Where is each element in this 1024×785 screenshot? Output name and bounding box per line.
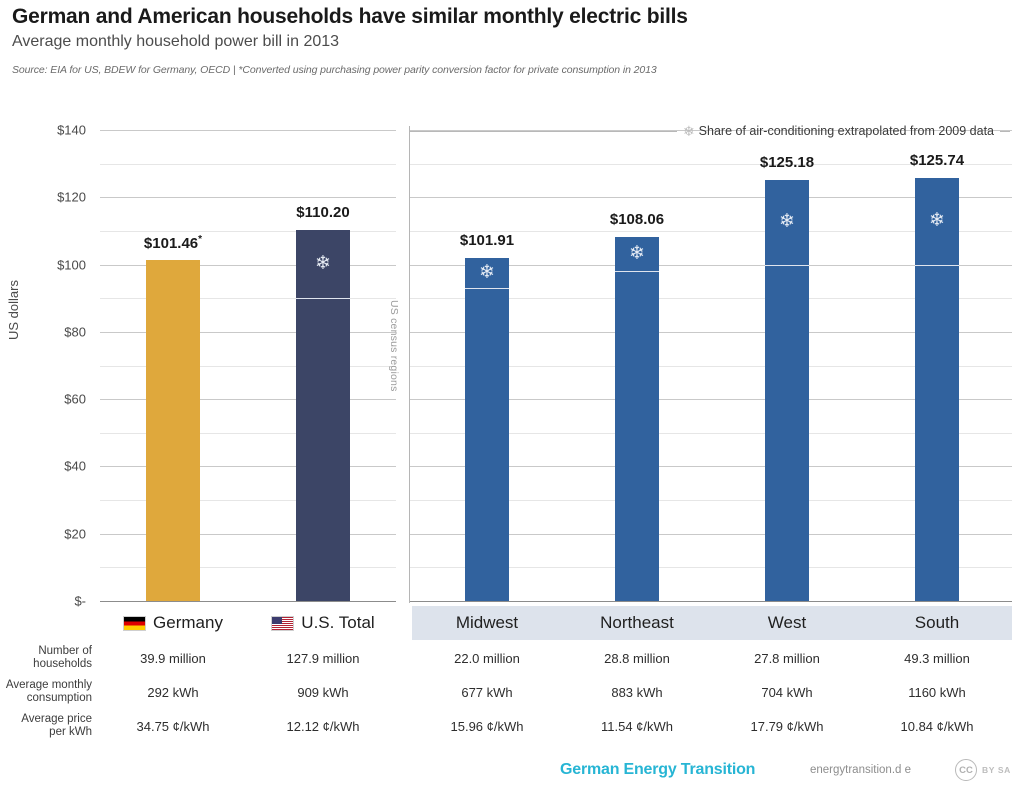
gridline [100,500,396,501]
row-right-values: 677 kWh 883 kWh 704 kWh 1160 kWh [412,685,1012,700]
census-regions-axis: US census regions [391,300,409,420]
y-axis-tick-label: $60 [0,392,86,407]
row-header-price: Average price per kWh [0,713,98,739]
y-axis-tick-label: $100 [0,257,86,272]
brand-logo: German Energy Transition [560,761,755,779]
cell-us-total: 12.12 ¢/kWh [248,719,398,734]
category-label: West [768,613,806,633]
bar-south[interactable]: ❄ [915,178,959,601]
table-row: Average monthly consumption 292 kWh 909 … [0,675,1012,709]
annotation-tail-line [1000,131,1010,132]
y-axis-tick-label: $40 [0,459,86,474]
ac-share-divider [915,265,959,266]
country-category-labels: Germany U.S. Total [98,606,398,640]
cell-germany: 292 kWh [98,685,248,700]
data-table: Number of households 39.9 million 127.9 … [0,641,1012,743]
ac-share-divider [296,298,350,299]
row-header-line2: households [0,658,92,671]
y-axis-tick-label: $140 [0,123,86,138]
cell-northeast: 11.54 ¢/kWh [562,719,712,734]
cell-south: 10.84 ¢/kWh [862,719,1012,734]
bar-value-label-germany: $101.46* [103,234,243,252]
annotation-text: Share of air-conditioning extrapolated f… [699,124,994,138]
row-right-values: 15.96 ¢/kWh 11.54 ¢/kWh 17.79 ¢/kWh 10.8… [412,719,1012,734]
gridline [100,534,396,535]
cell-west: 17.79 ¢/kWh [712,719,862,734]
footnote-marker: * [198,234,202,245]
table-row: Average price per kWh 34.75 ¢/kWh 12.12 … [0,709,1012,743]
category-germany[interactable]: Germany [98,606,248,640]
gridline [100,567,396,568]
y-axis-tick-label: $20 [0,526,86,541]
bar-midwest[interactable]: ❄ [465,258,509,601]
bar-west[interactable]: ❄ [765,180,809,601]
bar-germany[interactable] [146,260,200,601]
row-header-line1: Average price [0,713,92,726]
category-midwest[interactable]: Midwest [412,606,562,640]
census-regions-axis-label: US census regions [388,300,400,392]
creative-commons-badge: CC BY SA [955,759,1011,781]
category-label: South [915,613,959,633]
gridline [100,298,396,299]
bar-value-label-south: $125.74 [867,152,1007,169]
bar-value-label-northeast: $108.06 [567,211,707,228]
snowflake-icon: ❄ [465,263,509,282]
cell-us-total: 127.9 million [248,651,398,666]
bar-us_total[interactable]: ❄ [296,230,350,601]
panel-divider [409,126,410,603]
cell-germany: 39.9 million [98,651,248,666]
annotation-leader-line [410,131,677,132]
cell-us-total: 909 kWh [248,685,398,700]
category-label: Northeast [600,613,674,633]
row-header-line2: per kWh [0,726,92,739]
gridline [100,164,396,165]
row-header-consumption: Average monthly consumption [0,679,98,705]
gridline [100,366,396,367]
cc-icon: CC [955,759,977,781]
site-url[interactable]: energytransition.d e [810,764,911,776]
row-right-values: 22.0 million 28.8 million 27.8 million 4… [412,651,1012,666]
chart-footer: German Energy Transition energytransitio… [0,757,1012,783]
category-label: Midwest [456,613,518,633]
cell-west: 27.8 million [712,651,862,666]
row-header-line1: Number of [0,645,92,658]
snowflake-icon: ❄ [915,211,959,230]
cell-northeast: 28.8 million [562,651,712,666]
category-northeast[interactable]: Northeast [562,606,712,640]
ac-share-divider [765,265,809,266]
ac-share-divider [465,288,509,289]
gridline [100,466,396,467]
cell-south: 49.3 million [862,651,1012,666]
ac-share-divider [615,271,659,272]
gridline [100,231,396,232]
category-south[interactable]: South [862,606,1012,640]
cc-terms: BY SA [982,765,1011,775]
snowflake-icon: ❄ [683,124,695,138]
table-row: Number of households 39.9 million 127.9 … [0,641,1012,675]
gridline [100,265,396,266]
snowflake-icon: ❄ [765,212,809,231]
y-axis-tick-label: $- [0,594,86,609]
cell-west: 704 kWh [712,685,862,700]
row-header-line1: Average monthly [0,679,92,692]
gridline [100,130,396,131]
cell-midwest: 15.96 ¢/kWh [412,719,562,734]
gridline [100,197,396,198]
flag-de-icon [123,616,146,631]
row-header-households: Number of households [0,645,98,671]
category-label: U.S. Total [301,613,374,633]
snowflake-icon: ❄ [615,244,659,263]
category-label: Germany [153,613,223,633]
category-west[interactable]: West [712,606,862,640]
cell-midwest: 677 kWh [412,685,562,700]
cell-midwest: 22.0 million [412,651,562,666]
cell-south: 1160 kWh [862,685,1012,700]
gridline [100,332,396,333]
gridline [410,601,1012,602]
ac-share-annotation: ❄ Share of air-conditioning extrapolated… [410,123,1010,139]
bar-value-label-west: $125.18 [717,154,857,171]
row-left-values: 34.75 ¢/kWh 12.12 ¢/kWh [98,719,398,734]
region-category-labels: Midwest Northeast West South [412,606,1012,640]
y-axis-tick-label: $120 [0,190,86,205]
row-left-values: 39.9 million 127.9 million [98,651,398,666]
y-axis-tick-label: $80 [0,324,86,339]
row-left-values: 292 kWh 909 kWh [98,685,398,700]
cell-northeast: 883 kWh [562,685,712,700]
bar-northeast[interactable]: ❄ [615,237,659,601]
gridline [100,601,396,602]
snowflake-icon: ❄ [296,254,350,273]
row-header-line2: consumption [0,692,92,705]
gridline [100,399,396,400]
bar-value-label-us_total: $110.20 [253,204,393,221]
bar-value-label-midwest: $101.91 [417,232,557,249]
flag-us-icon [271,616,294,631]
cell-germany: 34.75 ¢/kWh [98,719,248,734]
gridline [100,433,396,434]
category-us-total[interactable]: U.S. Total [248,606,398,640]
